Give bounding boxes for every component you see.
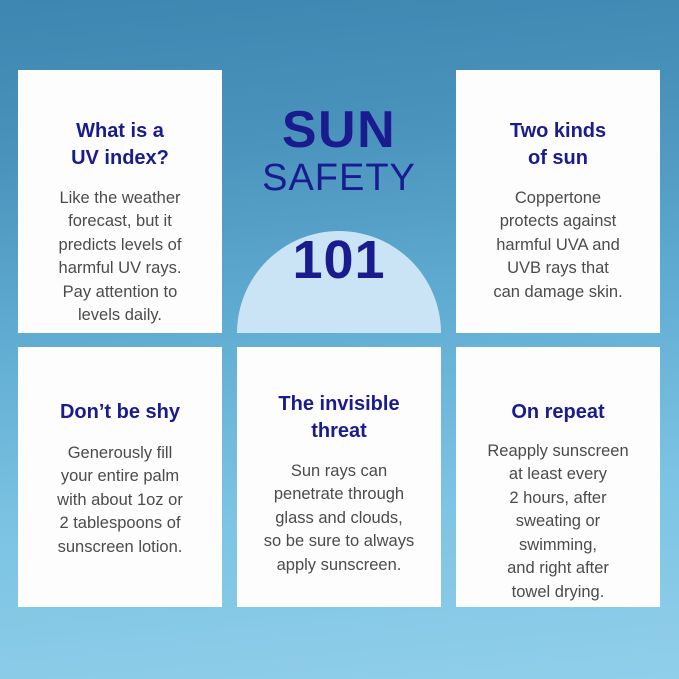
card-dont-be-shy: Don’t be shy Generously fill your entire… (18, 347, 222, 607)
card-dont-be-shy-body: Generously fill your entire palm with ab… (57, 442, 183, 559)
sun-safety-infographic: What is a UV index? Like the weather for… (0, 0, 679, 679)
card-uv-index-title: What is a UV index? (71, 118, 169, 172)
card-two-kinds-body: Coppertone protects against harmful UVA … (493, 187, 622, 304)
hero-title-block: SUN SAFETY 101 (237, 70, 441, 333)
hero-title-safety: SAFETY (262, 155, 416, 203)
card-two-kinds-title: Two kinds of sun (510, 118, 606, 172)
card-dont-be-shy-title: Don’t be shy (60, 399, 180, 426)
hero-number-101: 101 (292, 229, 385, 291)
card-invisible-threat-title: The invisible threat (278, 391, 399, 445)
card-on-repeat-title: On repeat (511, 399, 604, 426)
card-invisible-threat: The invisible threat Sun rays can penetr… (237, 347, 441, 607)
card-uv-index: What is a UV index? Like the weather for… (18, 70, 222, 333)
card-invisible-threat-body: Sun rays can penetrate through glass and… (264, 460, 414, 577)
hero-title-wrap: SUN SAFETY (262, 70, 416, 203)
card-two-kinds-of-sun: Two kinds of sun Coppertone protects aga… (456, 70, 660, 333)
card-on-repeat-body: Reapply sunscreen at least every 2 hours… (487, 440, 628, 604)
hero-title-sun: SUN (262, 106, 416, 155)
card-uv-index-body: Like the weather forecast, but it predic… (59, 187, 182, 328)
card-on-repeat: On repeat Reapply sunscreen at least eve… (456, 347, 660, 607)
